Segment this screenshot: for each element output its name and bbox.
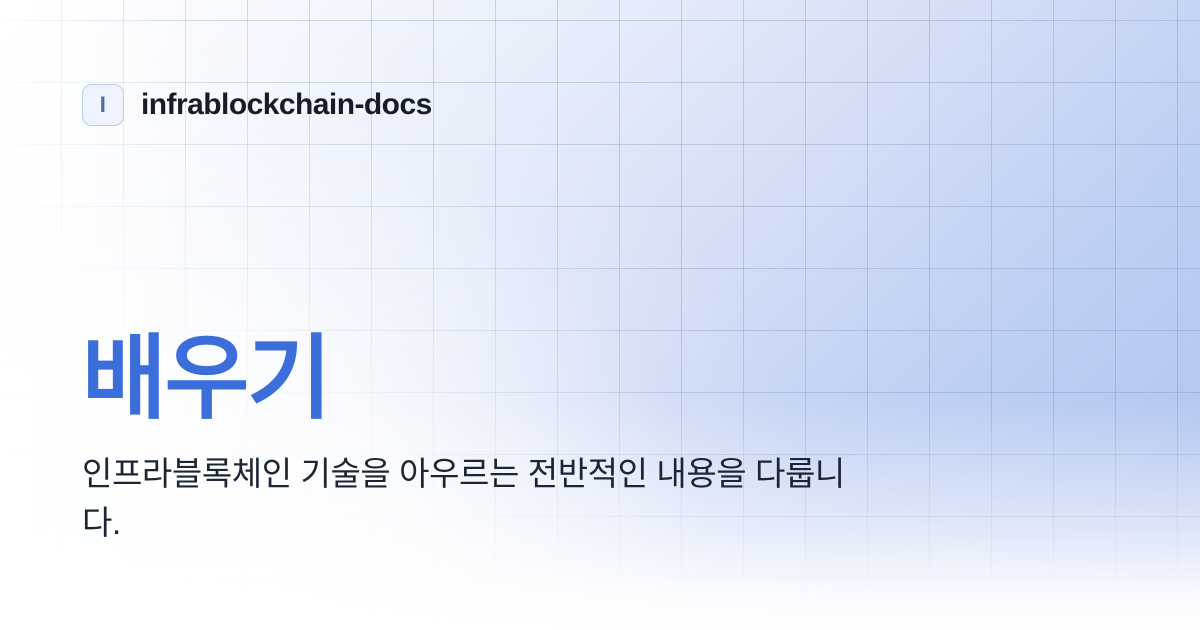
- og-preview-card: I infrablockchain-docs 배우기 인프라블록체인 기술을 아…: [0, 0, 1200, 630]
- page-title: 배우기: [82, 330, 912, 429]
- hero-block: 배우기 인프라블록체인 기술을 아우르는 전반적인 내용을 다룹니다.: [82, 330, 912, 548]
- card-content: I infrablockchain-docs 배우기 인프라블록체인 기술을 아…: [0, 0, 1200, 630]
- brand-lockup: I infrablockchain-docs: [82, 84, 432, 126]
- page-subtitle: 인프라블록체인 기술을 아우르는 전반적인 내용을 다룹니다.: [82, 450, 882, 548]
- brand-logo-badge: I: [82, 84, 124, 126]
- brand-title: infrablockchain-docs: [141, 90, 432, 120]
- brand-initial-icon: I: [100, 94, 107, 116]
